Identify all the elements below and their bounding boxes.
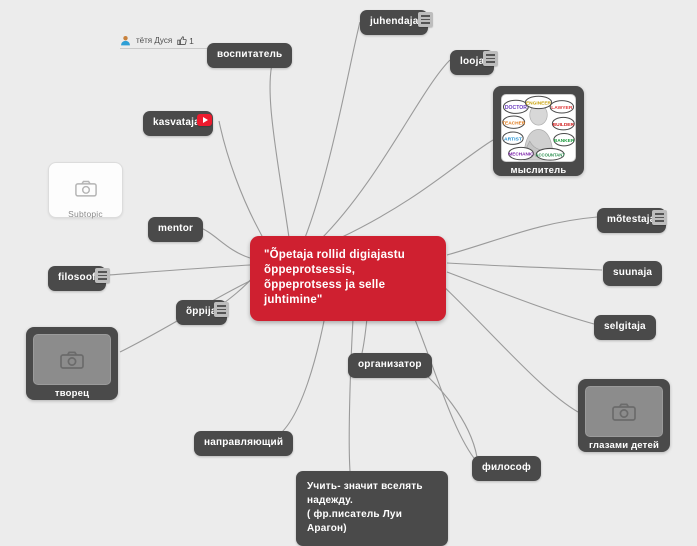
image-node-subtopic[interactable]: Subtopic [48, 162, 123, 218]
svg-text:BANKER: BANKER [554, 138, 575, 144]
image-placeholder-subtopic [56, 170, 115, 206]
camera-icon [612, 403, 636, 421]
quote-line-2: ( фр.писатель Луи Арагон) [307, 509, 402, 534]
node-napravlyayushchiy[interactable]: направляющий [194, 431, 293, 456]
note-icon-juhendaja[interactable] [418, 12, 433, 27]
image-placeholder-tvorec [33, 334, 111, 385]
camera-icon [60, 351, 84, 369]
image-caption-tvorec: творец [33, 385, 111, 400]
node-selgitaja[interactable]: selgitaja [594, 315, 656, 340]
image-caption-myslitel: мыслитель [501, 162, 576, 177]
image-caption-glazami-detey: глазами детей [585, 437, 663, 452]
svg-text:BUILDER: BUILDER [553, 122, 575, 128]
svg-text:ARTIST: ARTIST [504, 136, 522, 142]
quote-line-1: Учить- значит вселять надежду. [307, 481, 423, 506]
svg-text:LAWYER: LAWYER [551, 105, 573, 111]
node-organizator[interactable]: организатор [348, 353, 432, 378]
svg-text:ACCOUNTANT: ACCOUNTANT [535, 152, 565, 157]
svg-text:ENGINEER: ENGINEER [526, 101, 552, 107]
user-avatar-icon [120, 35, 131, 46]
video-icon-kasvatajat[interactable] [197, 114, 212, 126]
image-node-tvorec[interactable]: творец [26, 327, 118, 400]
mindmap-canvas[interactable]: тётя Дуся 1 "Õpetaja rollid digiajastu õ… [0, 0, 697, 520]
node-filosof[interactable]: философ [472, 456, 541, 481]
thinker-illustration-svg: DOCTOR ENGINEER LAWYER TEACHER BUILDER [502, 95, 575, 161]
image-node-myslitel[interactable]: DOCTOR ENGINEER LAWYER TEACHER BUILDER [493, 86, 584, 176]
image-node-glazami-detey[interactable]: глазами детей [578, 379, 670, 452]
camera-icon [75, 180, 97, 197]
note-icon-oppija[interactable] [214, 302, 229, 317]
note-icon-motestaja[interactable] [652, 210, 667, 225]
author-name: тётя Дуся [136, 36, 172, 45]
image-placeholder-glazami-detey [585, 386, 663, 437]
central-topic[interactable]: "Õpetaja rollid digiajastu õppeprotsessi… [250, 236, 446, 321]
thumbs-up-icon [177, 36, 187, 46]
image-caption-subtopic: Subtopic [56, 206, 115, 220]
node-mentor[interactable]: mentor [148, 217, 203, 242]
svg-text:TEACHER: TEACHER [502, 120, 526, 126]
author-strip: тётя Дуся 1 [120, 35, 220, 49]
node-suunaja[interactable]: suunaja [603, 261, 662, 286]
thinker-illustration: DOCTOR ENGINEER LAWYER TEACHER BUILDER [501, 94, 576, 162]
node-vospitatel[interactable]: воспитатель [207, 43, 292, 68]
like-count: 1 [189, 36, 194, 46]
note-icon-filosoof[interactable] [95, 268, 110, 283]
node-quote[interactable]: Учить- значит вселять надежду. ( фр.писа… [296, 471, 448, 546]
svg-text:MECHANIC: MECHANIC [508, 152, 534, 157]
like-counter[interactable]: 1 [177, 36, 194, 46]
note-icon-looja[interactable] [483, 51, 498, 66]
svg-text:DOCTOR: DOCTOR [505, 105, 527, 111]
